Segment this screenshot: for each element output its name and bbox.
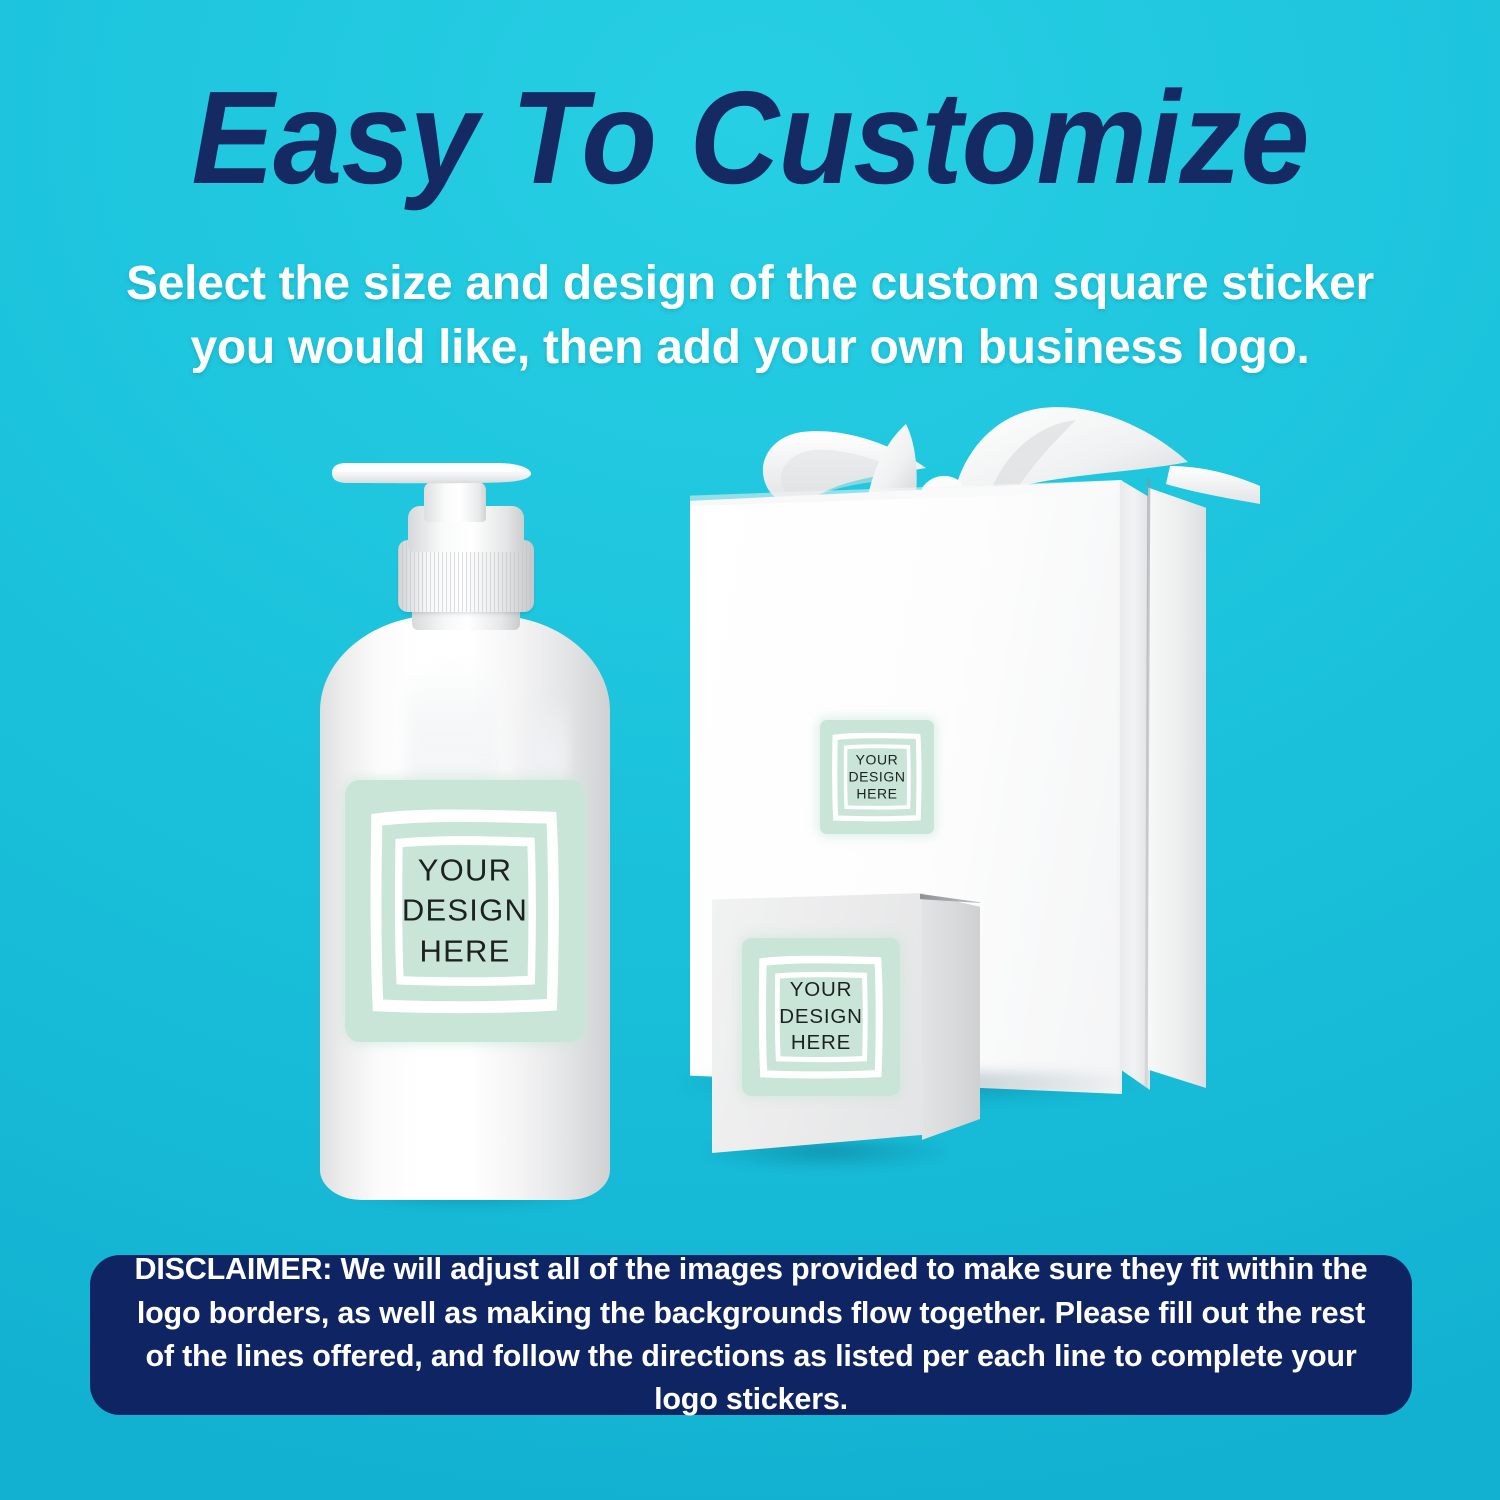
pump-nozzle-icon bbox=[326, 460, 534, 494]
sticker-text: YOUR DESIGN HERE bbox=[820, 751, 934, 802]
promo-graphic: Easy To Customize Select the size and de… bbox=[0, 0, 1500, 1500]
disclaimer-text: DISCLAIMER: We will adjust all of the im… bbox=[90, 1248, 1412, 1421]
sticker-on-small-box: YOUR DESIGN HERE bbox=[742, 938, 900, 1096]
small-box-side-panel bbox=[922, 891, 980, 1153]
sticker-on-gift-box: YOUR DESIGN HERE bbox=[820, 720, 934, 834]
sticker-text: YOUR DESIGN HERE bbox=[345, 851, 585, 972]
sticker-on-bottle: YOUR DESIGN HERE bbox=[345, 780, 585, 1042]
small-box: YOUR DESIGN HERE bbox=[712, 893, 980, 1168]
disclaimer-banner: DISCLAIMER: We will adjust all of the im… bbox=[90, 1255, 1412, 1415]
disclaimer-label: DISCLAIMER: bbox=[135, 1252, 333, 1286]
pump-bottle: YOUR DESIGN HERE bbox=[300, 440, 640, 1200]
sticker-text: YOUR DESIGN HERE bbox=[742, 977, 900, 1057]
gift-box-side-panel-b bbox=[1148, 474, 1206, 1088]
